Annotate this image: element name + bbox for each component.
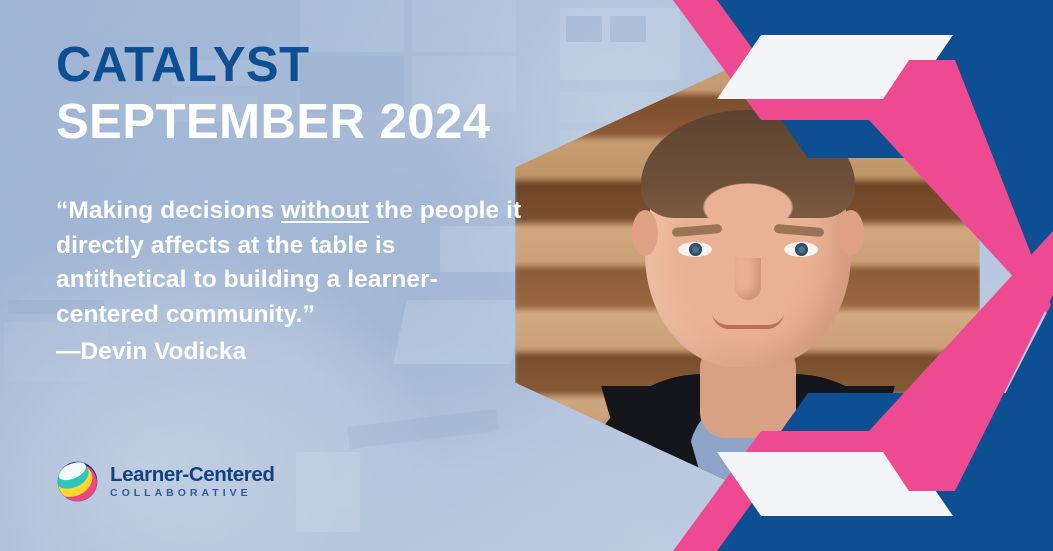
- logo-name: Learner-Centered: [110, 465, 275, 486]
- headline-and-quote-block: CATALYST SEPTEMBER 2024 “Making decision…: [56, 40, 526, 370]
- sphere-logo-icon: [56, 460, 99, 503]
- brand-geometric-graphic: [633, 0, 1053, 551]
- logo-subtitle: COLLABORATIVE: [110, 488, 275, 499]
- logo-wordmark: Learner-Centered COLLABORATIVE: [110, 465, 275, 499]
- page-title: CATALYST: [56, 40, 526, 91]
- quote-attribution: —Devin Vodicka: [56, 335, 526, 370]
- quote-text-before: “Making decisions: [56, 197, 281, 224]
- pull-quote: “Making decisions without the people it …: [56, 194, 526, 333]
- quote-emphasis: without: [281, 197, 369, 224]
- issue-date: SEPTEMBER 2024: [56, 97, 526, 148]
- catalyst-newsletter-banner: CATALYST SEPTEMBER 2024 “Making decision…: [0, 0, 1053, 551]
- brand-logo[interactable]: Learner-Centered COLLABORATIVE: [56, 460, 275, 503]
